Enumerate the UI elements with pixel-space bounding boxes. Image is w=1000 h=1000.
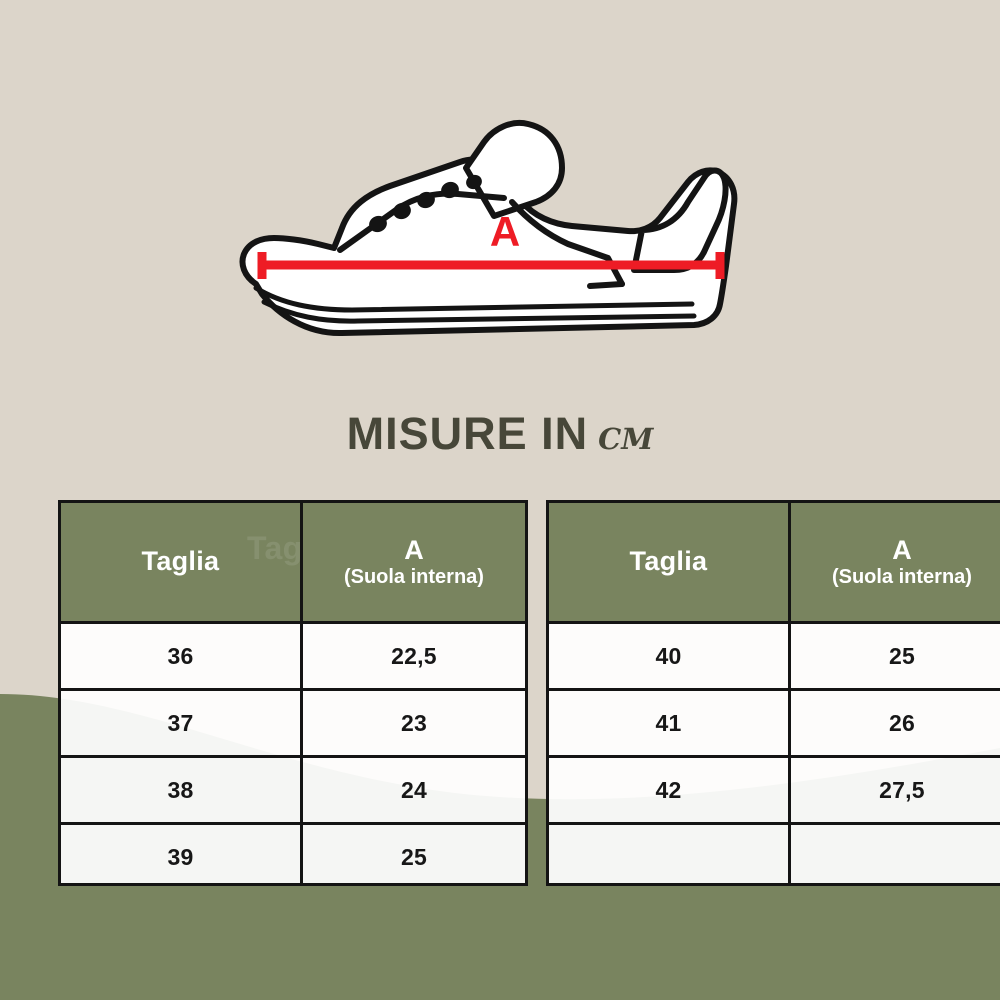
cell-measure: 27,5 bbox=[791, 758, 1000, 822]
cell-measure: 23 bbox=[303, 691, 525, 755]
cell-measure: 26 bbox=[791, 691, 1000, 755]
table-header-row: Taglia A (Suola interna) bbox=[549, 503, 1000, 621]
header-size-label: Taglia bbox=[142, 547, 220, 577]
measure-value: 25 bbox=[889, 643, 915, 670]
title-unit: cm bbox=[598, 410, 653, 459]
cell-size bbox=[549, 825, 791, 886]
sneaker-illustration: A bbox=[222, 98, 762, 350]
header-size-label: Taglia bbox=[630, 547, 708, 577]
table-row: 39 25 bbox=[61, 822, 525, 886]
measure-value: 23 bbox=[401, 710, 427, 737]
cell-size: 38 bbox=[61, 758, 303, 822]
cell-measure: 24 bbox=[303, 758, 525, 822]
title-main: MISURE IN bbox=[347, 408, 589, 459]
cell-size: 40 bbox=[549, 624, 791, 688]
table-row: 42 27,5 bbox=[549, 755, 1000, 822]
size-value: 41 bbox=[655, 710, 681, 737]
table-row-empty bbox=[549, 822, 1000, 886]
cell-size: 39 bbox=[61, 825, 303, 886]
table-row: 37 23 bbox=[61, 688, 525, 755]
table-row: 36 22,5 bbox=[61, 621, 525, 688]
cell-size: 41 bbox=[549, 691, 791, 755]
table-row: 41 26 bbox=[549, 688, 1000, 755]
header-measure-label: A bbox=[404, 536, 424, 564]
measure-value: 26 bbox=[889, 710, 915, 737]
measure-value: 25 bbox=[401, 844, 427, 871]
cell-size: 42 bbox=[549, 758, 791, 822]
header-cell-size: Taglia bbox=[549, 503, 791, 621]
size-value: 40 bbox=[655, 643, 681, 670]
measure-value: 22,5 bbox=[391, 643, 437, 670]
measure-value: 24 bbox=[401, 777, 427, 804]
header-cell-measure: A (Suola interna) bbox=[791, 503, 1000, 621]
header-measure-sublabel: (Suola interna) bbox=[344, 566, 484, 588]
size-value: 36 bbox=[167, 643, 193, 670]
cell-size: 37 bbox=[61, 691, 303, 755]
size-value: 37 bbox=[167, 710, 193, 737]
header-measure-sublabel: (Suola interna) bbox=[832, 566, 972, 588]
size-table-right: Taglia A (Suola interna) 40 25 41 26 bbox=[546, 500, 1000, 886]
size-value: 38 bbox=[167, 777, 193, 804]
header-ghost-label: Taglia bbox=[247, 530, 303, 567]
cell-measure: 25 bbox=[791, 624, 1000, 688]
table-row: 40 25 bbox=[549, 621, 1000, 688]
svg-text:A: A bbox=[490, 208, 520, 255]
header-cell-measure: A (Suola interna) bbox=[303, 503, 525, 621]
measure-value: 27,5 bbox=[879, 777, 925, 804]
table-header-row: Taglia Taglia A (Suola interna) bbox=[61, 503, 525, 621]
page-title: MISURE INcm bbox=[0, 408, 1000, 460]
table-row: 38 24 bbox=[61, 755, 525, 822]
size-value: 42 bbox=[655, 777, 681, 804]
size-value: 39 bbox=[167, 844, 193, 871]
cell-measure: 25 bbox=[303, 825, 525, 886]
cell-measure: 22,5 bbox=[303, 624, 525, 688]
cell-measure bbox=[791, 825, 1000, 886]
cell-size: 36 bbox=[61, 624, 303, 688]
size-chart-page: A MISURE INcm Taglia Taglia A (Suola int… bbox=[0, 0, 1000, 1000]
header-cell-size: Taglia Taglia bbox=[61, 503, 303, 621]
size-table-left: Taglia Taglia A (Suola interna) 36 22,5 … bbox=[58, 500, 528, 886]
header-measure-label: A bbox=[892, 536, 912, 564]
